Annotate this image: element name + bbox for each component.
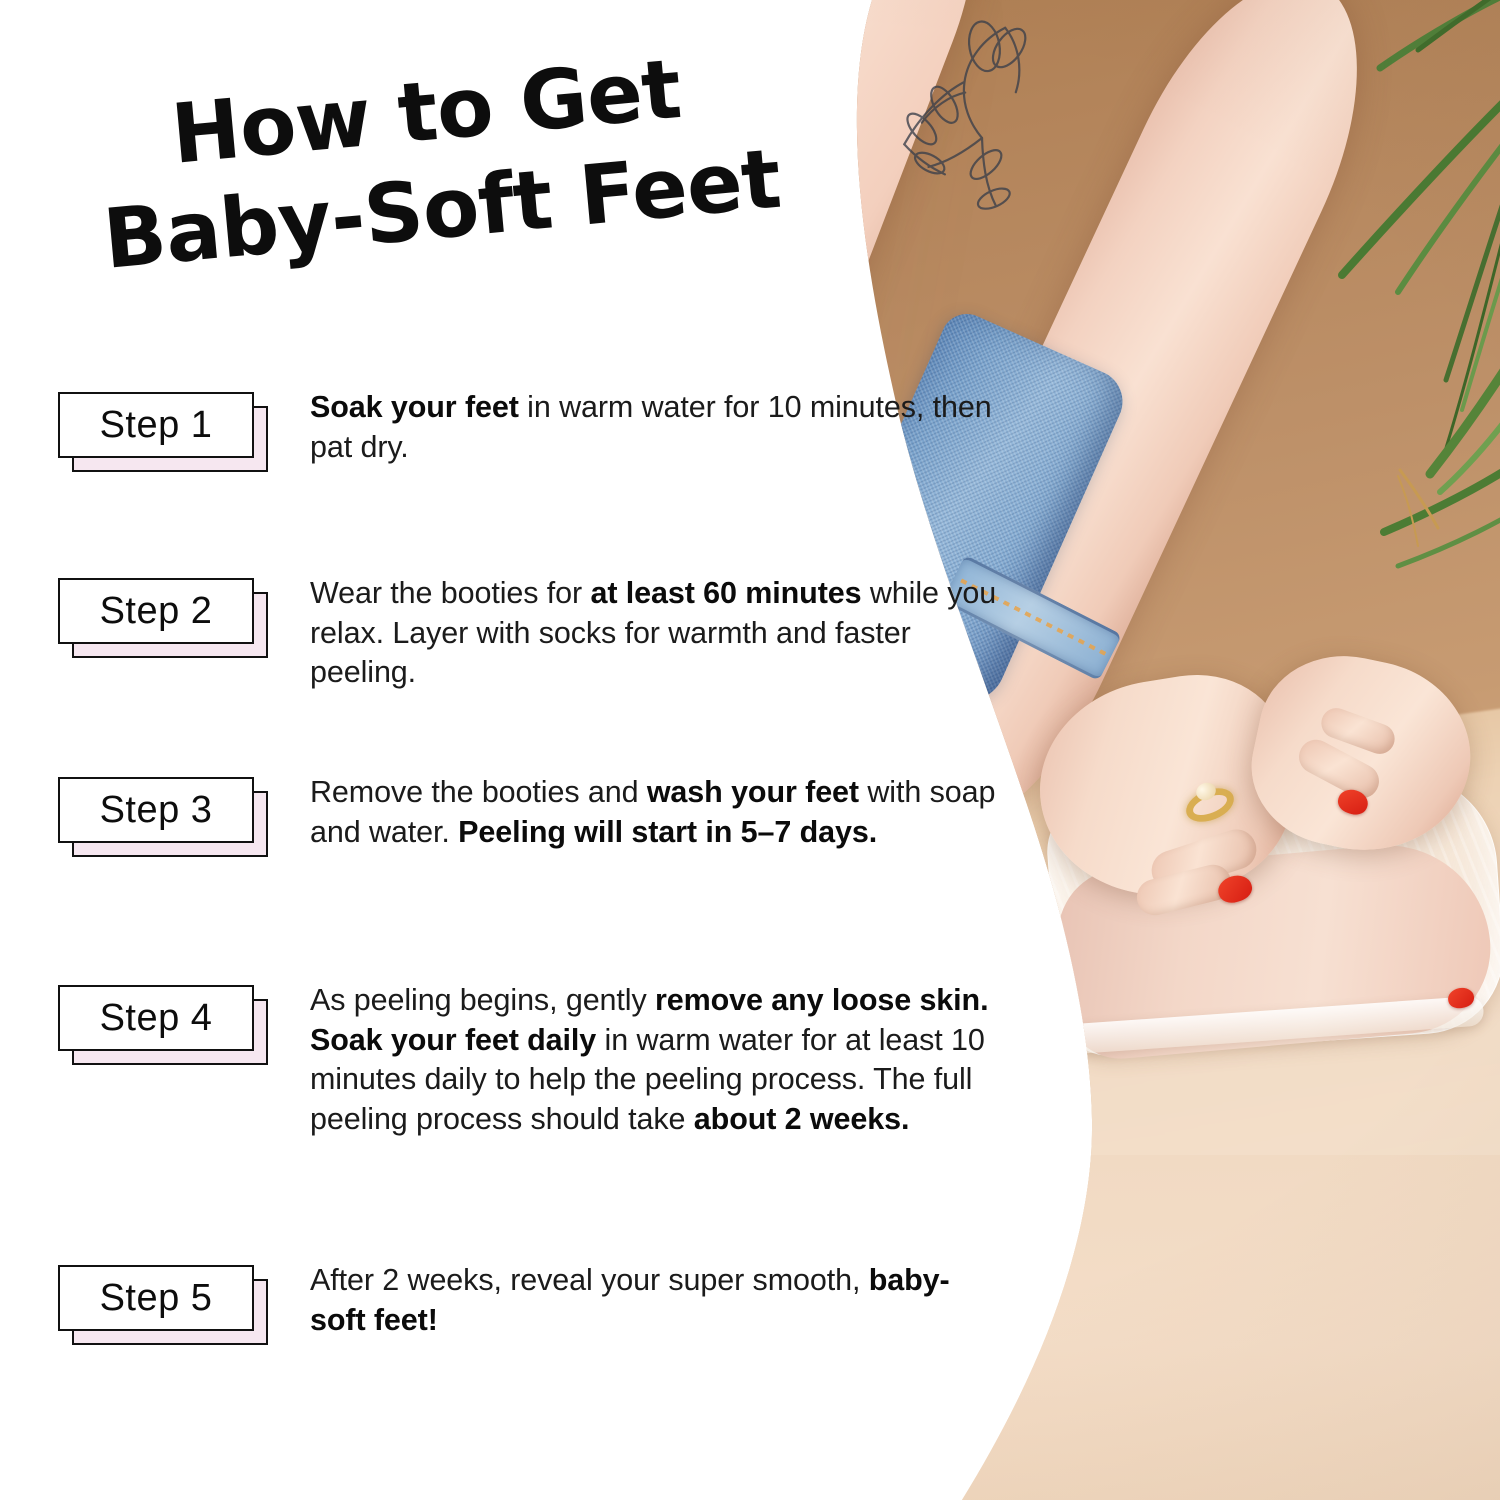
step-badge-2: Step 2 bbox=[58, 578, 258, 648]
step-badge-4: Step 4 bbox=[58, 985, 258, 1055]
step-badge-front-4: Step 4 bbox=[58, 985, 254, 1051]
step-badge-front-1: Step 1 bbox=[58, 392, 254, 458]
step-badge-label-2: Step 2 bbox=[100, 590, 213, 633]
infographic-canvas: How to Get Baby-Soft Feet Step 1 Soak yo… bbox=[0, 0, 1500, 1500]
step-text-5: After 2 weeks, reveal your super smooth,… bbox=[310, 1261, 990, 1340]
step-badge-front-2: Step 2 bbox=[58, 578, 254, 644]
step-text-1: Soak your feet in warm water for 10 minu… bbox=[310, 388, 1000, 467]
step-badge-label-5: Step 5 bbox=[100, 1277, 213, 1320]
step-badge-5: Step 5 bbox=[58, 1265, 258, 1335]
step-badge-1: Step 1 bbox=[58, 392, 258, 462]
step-badge-label-3: Step 3 bbox=[100, 789, 213, 832]
step-badge-3: Step 3 bbox=[58, 777, 258, 847]
step-text-4: As peeling begins, gently remove any loo… bbox=[310, 981, 1010, 1140]
page-title: How to Get Baby-Soft Feet bbox=[104, 88, 824, 288]
step-text-3: Remove the booties and wash your feet wi… bbox=[310, 773, 1000, 852]
step-badge-label-1: Step 1 bbox=[100, 404, 213, 447]
content-column: How to Get Baby-Soft Feet Step 1 Soak yo… bbox=[0, 0, 1010, 1500]
step-badge-front-5: Step 5 bbox=[58, 1265, 254, 1331]
step-badge-front-3: Step 3 bbox=[58, 777, 254, 843]
step-badge-label-4: Step 4 bbox=[100, 997, 213, 1040]
step-text-2: Wear the booties for at least 60 minutes… bbox=[310, 574, 1000, 693]
